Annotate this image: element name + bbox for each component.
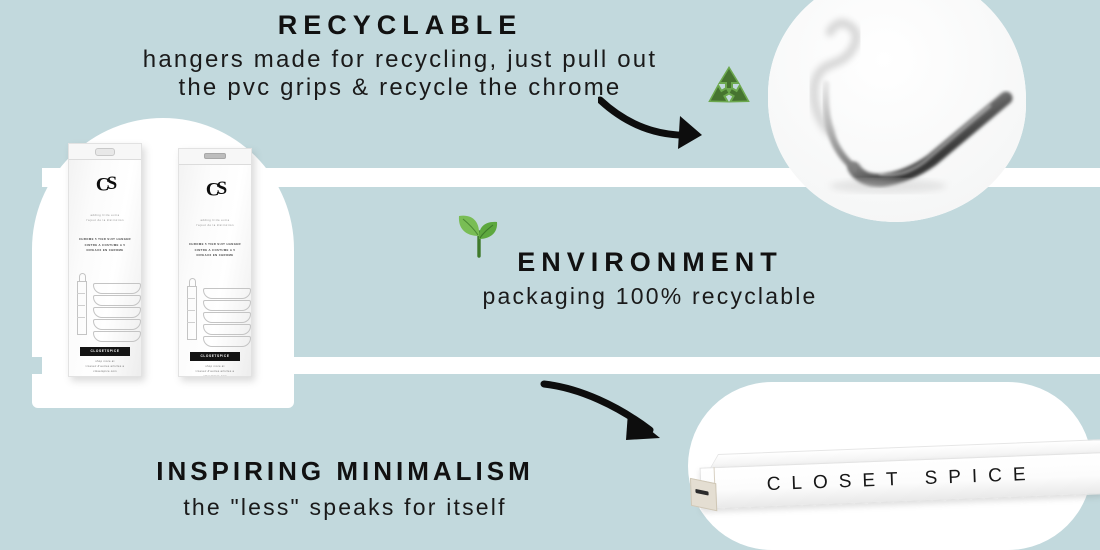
environment-subtitle: packaging 100% recyclable — [410, 283, 890, 310]
package-desc-line1: CHROME 5 TIER SUIT HANGER — [73, 237, 137, 243]
package-desc-line3: NIVEAUX EN CHROME — [183, 253, 247, 259]
package-footer-line3: closetspice.com — [182, 374, 248, 377]
shipping-box-flap-slot — [695, 489, 708, 496]
hanger-rod-hook — [189, 278, 196, 286]
package-logo: CS — [69, 174, 141, 193]
package-description: CHROME 5 TIER SUIT HANGER CINTRE A COSTU… — [183, 242, 247, 259]
package-tagline-fr: l'ajout de la distinction — [183, 224, 247, 229]
package-barcode-label: CLOSETSPICE — [190, 352, 240, 361]
hanger-bar — [93, 319, 141, 330]
package-hang-hole — [95, 148, 115, 156]
hanger-bar — [203, 288, 251, 299]
curved-arrow-bottom — [540, 378, 680, 457]
hanger-rod-rung — [187, 310, 195, 311]
band-tab-top-left — [0, 168, 42, 187]
package-barcode-label: CLOSETSPICE — [80, 347, 130, 356]
package-hang-hole — [204, 153, 226, 159]
hanger-bar — [203, 312, 251, 323]
hanger-rod-rung — [77, 293, 85, 294]
infographic-canvas: CS adding little extra l'ajout de la dis… — [0, 0, 1100, 550]
curved-arrow-top — [598, 92, 718, 159]
package-footer-line3: closetspice.com — [72, 369, 138, 374]
environment-title: ENVIRONMENT — [440, 247, 860, 278]
shipping-box-end-flap — [690, 478, 717, 511]
package-description: CHROME 5 TIER SUIT HANGER CINTRE A COSTU… — [73, 237, 137, 254]
hanger-bar — [93, 307, 141, 318]
recyclable-subtitle-line1: hangers made for recycling, just pull ou… — [0, 46, 800, 74]
package-desc-line1: CHROME 5 TIER SUIT HANGER — [183, 242, 247, 248]
hanger-bar — [93, 295, 141, 306]
hanger-rod — [187, 286, 197, 340]
package-footer: shop more at trouvez d'autres articles a… — [72, 359, 138, 374]
hanger-rod-hook — [79, 273, 86, 281]
minimalism-subtitle: the "less" speaks for itself — [120, 494, 570, 521]
package-header — [179, 149, 251, 165]
package-hanger-illustration — [75, 277, 135, 339]
chrome-hanger-svg — [768, 0, 1026, 222]
hanger-rod-rung — [187, 322, 195, 323]
package-header — [69, 144, 141, 160]
hanger-rod — [77, 281, 87, 335]
package-tagline-fr: l'ajout de la distinction — [73, 219, 137, 224]
hanger-bar — [93, 331, 141, 342]
hanger-bar — [203, 324, 251, 335]
package-tagline: adding little extra l'ajout de la distin… — [183, 219, 247, 228]
product-package-right: CS adding little extra l'ajout de la dis… — [178, 148, 252, 377]
hanger-rod-rung — [77, 305, 85, 306]
hanger-bar — [203, 300, 251, 311]
package-tagline: adding little extra l'ajout de la distin… — [73, 214, 137, 223]
package-footer: shop more at trouvez d'autres articles a… — [182, 364, 248, 377]
package-hanger-illustration — [185, 282, 245, 344]
minimalism-title: INSPIRING MINIMALISM — [120, 456, 570, 487]
package-desc-line3: NIVEAUX EN CHROME — [73, 248, 137, 254]
band-tab-bottom-left — [0, 357, 42, 374]
product-package-left: CS adding little extra l'ajout de la dis… — [68, 143, 142, 377]
hanger-bar — [203, 336, 251, 347]
package-logo: CS — [179, 179, 251, 198]
recyclable-title: RECYCLABLE — [0, 10, 800, 41]
hanger-rod-rung — [187, 298, 195, 299]
hanger-bar — [93, 283, 141, 294]
hanger-rod-rung — [77, 317, 85, 318]
chrome-hanger-closeup — [768, 0, 1026, 222]
